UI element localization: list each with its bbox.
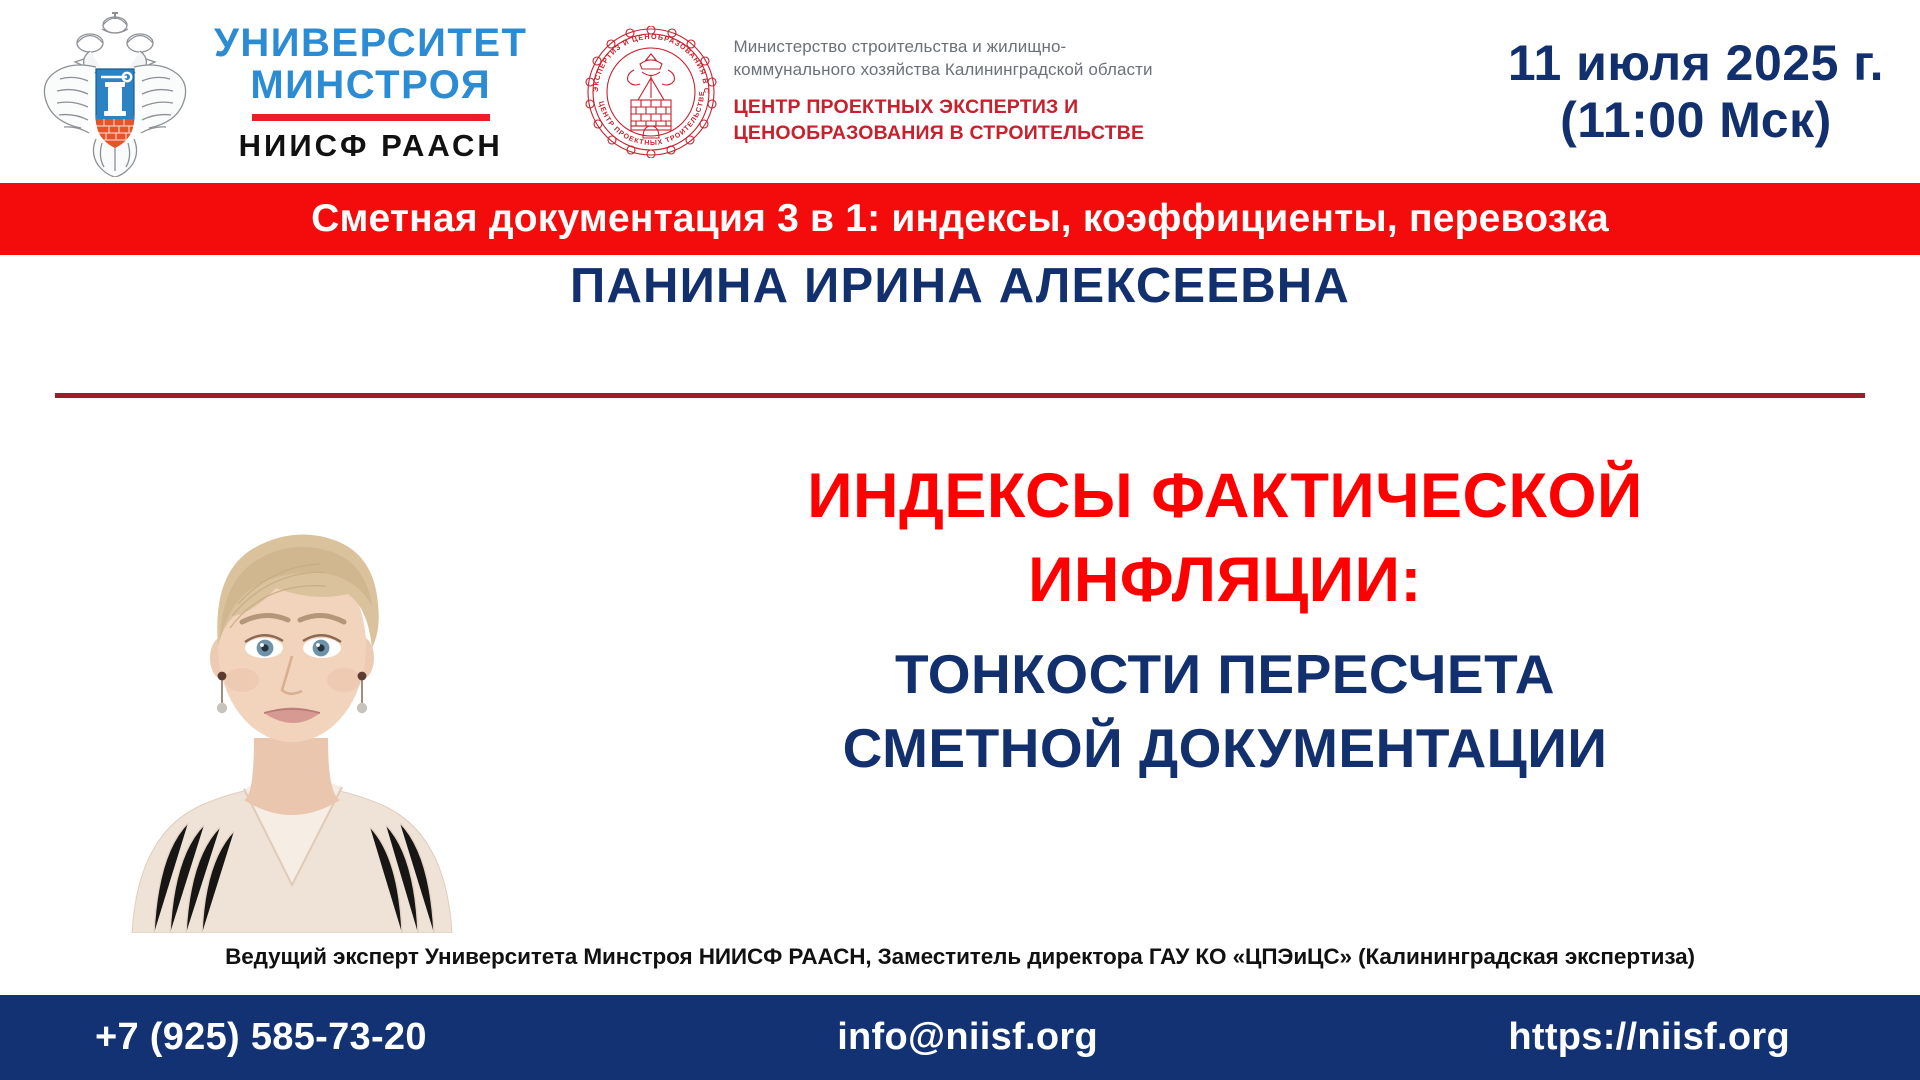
center-logo: ЭКСПЕРТИЗ И ЦЕНО ОБРАЗОВАНИЯ В С ЦЕНТР П… bbox=[585, 26, 1153, 158]
contact-website[interactable]: https://niisf.org bbox=[1508, 1016, 1790, 1059]
ministry-name: Министерство строительства и жилищно-ком… bbox=[733, 36, 1153, 82]
topic-banner: Сметная документация 3 в 1: индексы, коэ… bbox=[0, 183, 1920, 255]
presentation-title: ИНДЕКСЫ ФАКТИЧЕСКОЙ ИНФЛЯЦИИ: ТОНКОСТИ П… bbox=[560, 455, 1890, 786]
contact-phone[interactable]: +7 (925) 585-73-20 bbox=[95, 1016, 427, 1059]
title-navy-line1: ТОНКОСТИ ПЕРЕСЧЕТА bbox=[560, 637, 1890, 712]
contact-email[interactable]: info@niisf.org bbox=[837, 1016, 1098, 1059]
speaker-photo bbox=[72, 408, 512, 933]
title-red-line1: ИНДЕКСЫ ФАКТИЧЕСКОЙ bbox=[560, 455, 1890, 539]
speaker-name: ПАНИНА ИРИНА АЛЕКСЕЕВНА bbox=[0, 258, 1920, 314]
event-time: (11:00 Мск) bbox=[1508, 92, 1884, 149]
contact-footer: +7 (925) 585-73-20 info@niisf.org https:… bbox=[0, 995, 1920, 1080]
cpe-round-seal-icon: ЭКСПЕРТИЗ И ЦЕНО ОБРАЗОВАНИЯ В С ЦЕНТР П… bbox=[585, 26, 717, 158]
speaker-portrait-image bbox=[72, 408, 512, 933]
title-red-line2: ИНФЛЯЦИИ: bbox=[560, 539, 1890, 623]
university-logo: УНИВЕРСИТЕТ МИНСТРОЯ НИИСФ РААСН bbox=[30, 7, 527, 177]
university-name-line2: МИНСТРОЯ bbox=[214, 65, 527, 105]
event-date: 11 июля 2025 г. (11:00 Мск) bbox=[1508, 35, 1884, 148]
speaker-credentials: Ведущий эксперт Университета Минстроя НИ… bbox=[0, 944, 1920, 970]
speaker-name-divider bbox=[55, 393, 1865, 398]
center-name-line1: ЦЕНТР ПРОЕКТНЫХ ЭКСПЕРТИЗ И bbox=[733, 94, 1153, 120]
title-navy-line2: СМЕТНОЙ ДОКУМЕНТАЦИИ bbox=[560, 711, 1890, 786]
university-institute-abbr: НИИСФ РААСН bbox=[214, 130, 527, 161]
header: УНИВЕРСИТЕТ МИНСТРОЯ НИИСФ РААСН bbox=[0, 0, 1920, 183]
event-date-day: 11 июля 2025 г. bbox=[1508, 35, 1884, 92]
university-name-line1: УНИВЕРСИТЕТ bbox=[214, 23, 527, 63]
russian-coat-of-arms-icon bbox=[30, 7, 200, 177]
center-name-line2: ЦЕНООБРАЗОВАНИЯ В СТРОИТЕЛЬСТВЕ bbox=[733, 120, 1153, 146]
svg-text:ЭКСПЕРТИЗ И ЦЕНО: ЭКСПЕРТИЗ И ЦЕНО bbox=[585, 26, 651, 92]
topic-banner-text: Сметная документация 3 в 1: индексы, коэ… bbox=[311, 197, 1609, 241]
university-logo-rule bbox=[252, 114, 490, 121]
